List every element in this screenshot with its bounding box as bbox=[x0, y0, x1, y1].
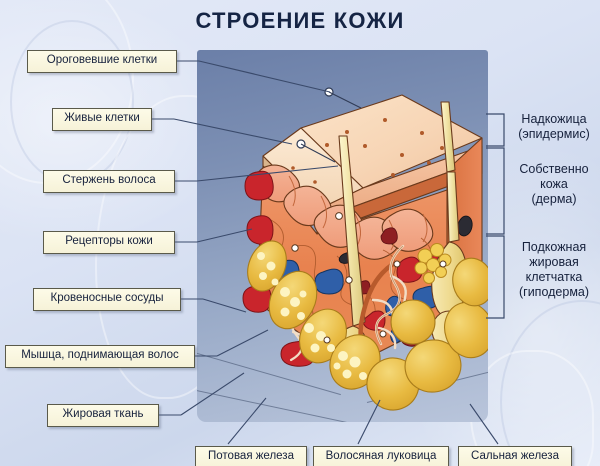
label-жировая-ткань[interactable]: Жировая ткань bbox=[47, 404, 159, 427]
label-собственно-кожа-дерма[interactable]: Собственно кожа (дерма) bbox=[510, 162, 598, 207]
skin-structure-diagram: СТРОЕНИЕ КОЖИ bbox=[0, 0, 600, 466]
layer-bracket-2 bbox=[486, 236, 504, 318]
layer-bracket-1 bbox=[486, 148, 504, 234]
label-надкожица-эпидермис[interactable]: Надкожица (эпидермис) bbox=[510, 112, 598, 142]
label-сальная-железа[interactable]: Сальная железа bbox=[458, 446, 572, 466]
label-живые-клетки[interactable]: Живые клетки bbox=[52, 108, 152, 131]
label-кровеносные-сосуды[interactable]: Кровеносные сосуды bbox=[33, 288, 181, 311]
label-волосяная-луковица[interactable]: Волосяная луковица bbox=[313, 446, 449, 466]
label-подкожная-жировая-клетчатка-гиподе[interactable]: Подкожная жировая клетчатка (гиподерма) bbox=[508, 240, 600, 300]
label-мышца-поднимающая-волос[interactable]: Мышца, поднимающая волос bbox=[5, 345, 195, 368]
label-потовая-железа[interactable]: Потовая железа bbox=[195, 446, 307, 466]
label-стержень-волоса[interactable]: Стержень волоса bbox=[43, 170, 175, 193]
label-рецепторы-кожи[interactable]: Рецепторы кожи bbox=[43, 231, 175, 254]
layer-bracket-0 bbox=[486, 114, 504, 146]
label-ороговевшие-клетки[interactable]: Ороговевшие клетки bbox=[27, 50, 177, 73]
